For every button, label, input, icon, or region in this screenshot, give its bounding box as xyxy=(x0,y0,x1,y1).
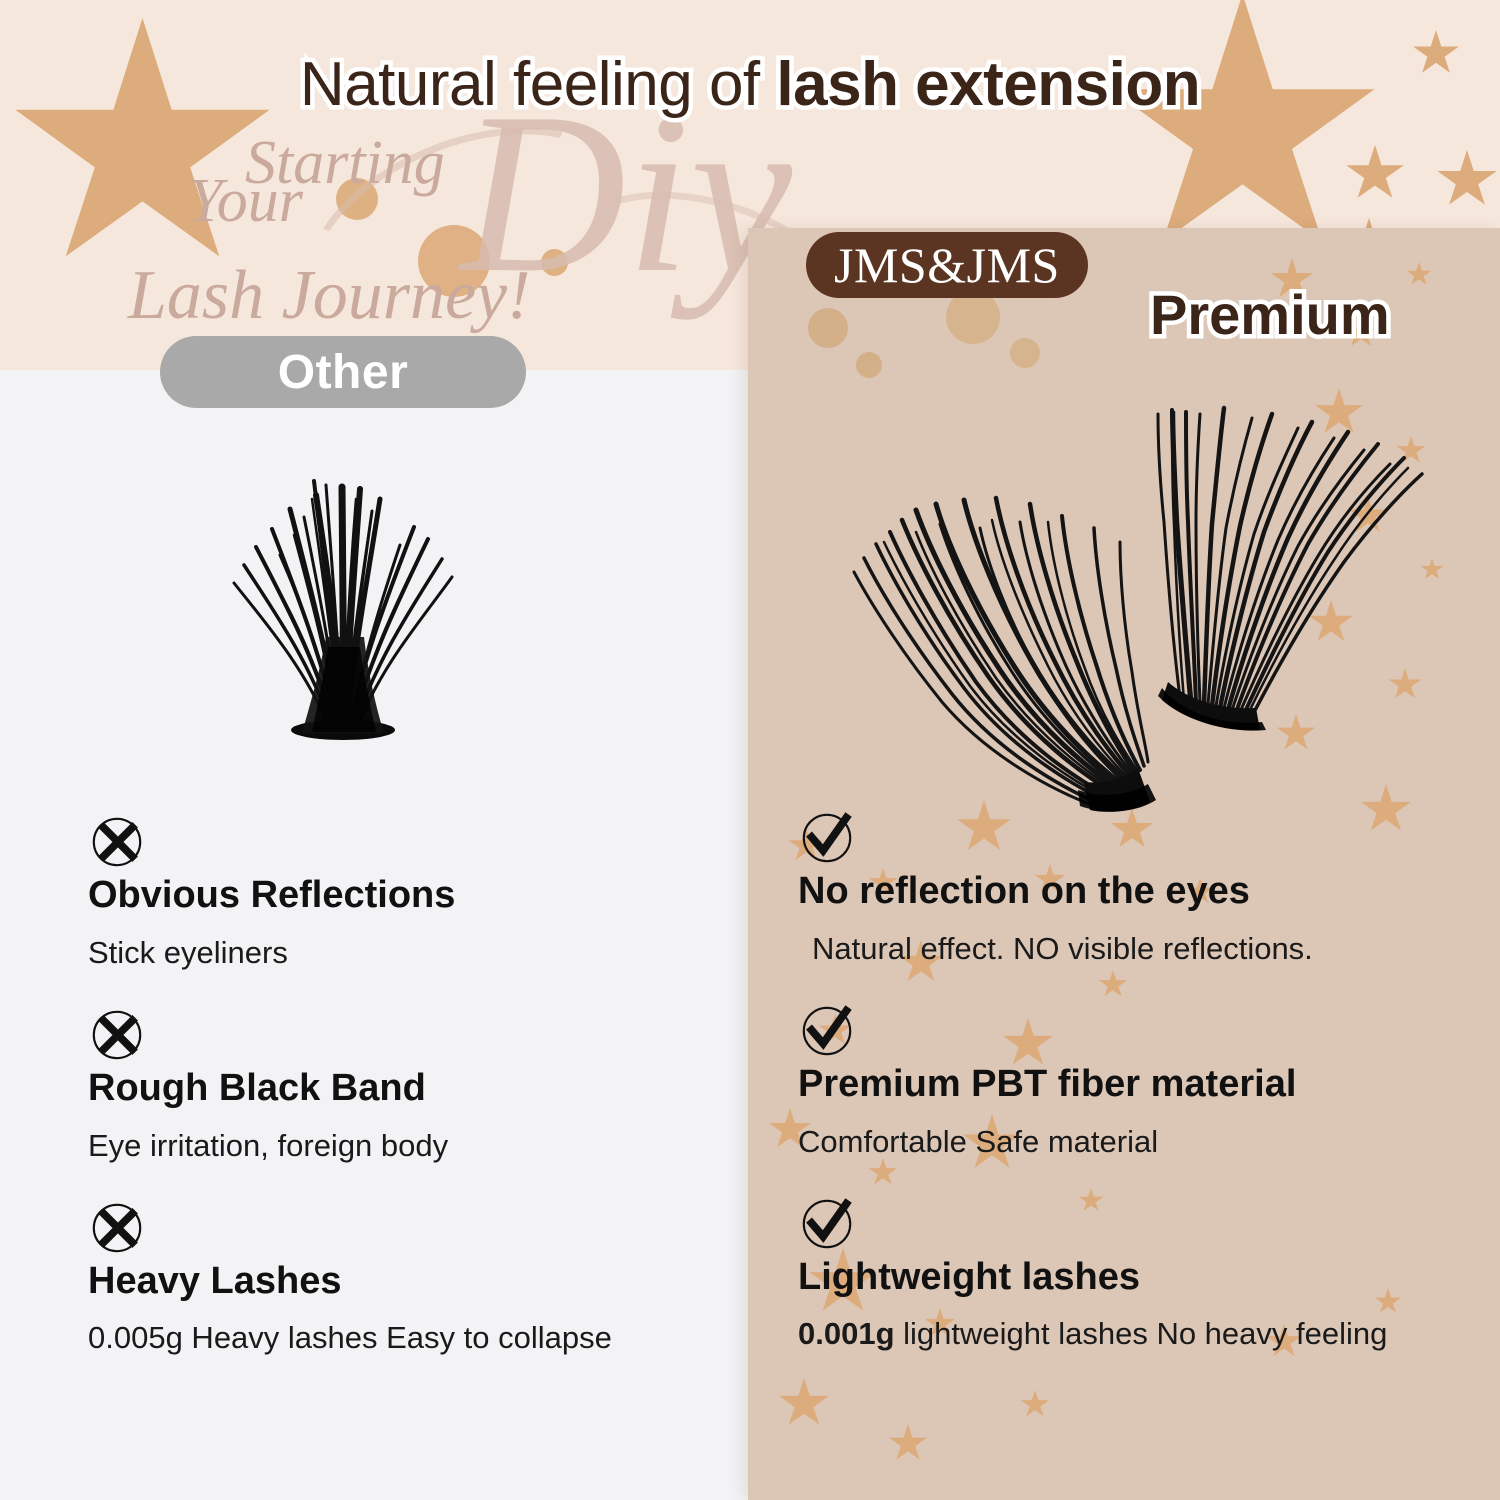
infographic-canvas: Diy Starting Your Lash Journey! Natural … xyxy=(0,0,1500,1500)
feature-subtitle: 0.001g lightweight lashes No heavy feeli… xyxy=(798,1315,1458,1352)
other-badge: Other xyxy=(160,336,526,408)
feature-title: Rough Black Band xyxy=(88,1067,708,1111)
feature-title: Lightweight lashes xyxy=(798,1256,1458,1300)
check-circle-icon xyxy=(798,1001,856,1059)
panel-star-30 xyxy=(1020,1390,1050,1419)
check-circle-icon xyxy=(798,808,856,866)
panel-star-3 xyxy=(1406,262,1432,287)
feature-item: Premium PBT fiber material Comfortable S… xyxy=(798,1001,1458,1160)
panel-dot-a xyxy=(808,308,848,348)
page-title-light: Natural feeling of xyxy=(300,50,776,119)
premium-feature-list: No reflection on the eyes Natural effect… xyxy=(798,808,1458,1387)
check-circle-icon xyxy=(798,1194,856,1252)
feature-subtitle: Stick eyeliners xyxy=(88,934,708,971)
feature-subtitle: Comfortable Safe material xyxy=(798,1123,1458,1160)
page-title-heavy: lash extension xyxy=(776,50,1200,119)
other-feature-list: Obvious Reflections Stick eyeliners Roug… xyxy=(88,812,708,1391)
premium-lash-image xyxy=(790,370,1430,820)
panel-dot-d xyxy=(1010,338,1040,368)
feature-subtitle-emphasis: 0.001g xyxy=(798,1316,895,1351)
feature-item: Heavy Lashes 0.005g Heavy lashes Easy to… xyxy=(88,1198,708,1357)
other-badge-label: Other xyxy=(278,345,409,400)
script-decoration-line2: Your xyxy=(188,166,303,237)
feature-title: Obvious Reflections xyxy=(88,874,708,918)
feature-subtitle: Eye irritation, foreign body xyxy=(88,1127,708,1164)
feature-subtitle: Natural effect. NO visible reflections. xyxy=(798,930,1458,967)
panel-star-29 xyxy=(888,1424,928,1463)
cross-circle-icon xyxy=(88,1005,146,1063)
feature-item: Rough Black Band Eye irritation, foreign… xyxy=(88,1005,708,1164)
feature-title: Premium PBT fiber material xyxy=(798,1063,1458,1107)
feature-subtitle: 0.005g Heavy lashes Easy to collapse xyxy=(88,1319,708,1356)
other-lash-image xyxy=(178,455,508,755)
feature-item: Obvious Reflections Stick eyeliners xyxy=(88,812,708,971)
script-decoration-line3: Lash Journey! xyxy=(128,256,530,336)
feature-title: Heavy Lashes xyxy=(88,1260,708,1304)
cross-circle-icon xyxy=(88,1198,146,1256)
brand-badge: JMS&JMS xyxy=(806,232,1088,298)
panel-dot-c xyxy=(946,290,1000,344)
cross-circle-icon xyxy=(88,812,146,870)
feature-subtitle-rest: lightweight lashes No heavy feeling xyxy=(895,1316,1388,1351)
page-title: Natural feeling of lash extension xyxy=(0,54,1500,116)
feature-title: No reflection on the eyes xyxy=(798,870,1458,914)
brand-badge-label: JMS&JMS xyxy=(834,236,1060,294)
premium-label: Premium xyxy=(1150,282,1390,347)
feature-item: Lightweight lashes 0.001g lightweight la… xyxy=(798,1194,1458,1353)
feature-item: No reflection on the eyes Natural effect… xyxy=(798,808,1458,967)
